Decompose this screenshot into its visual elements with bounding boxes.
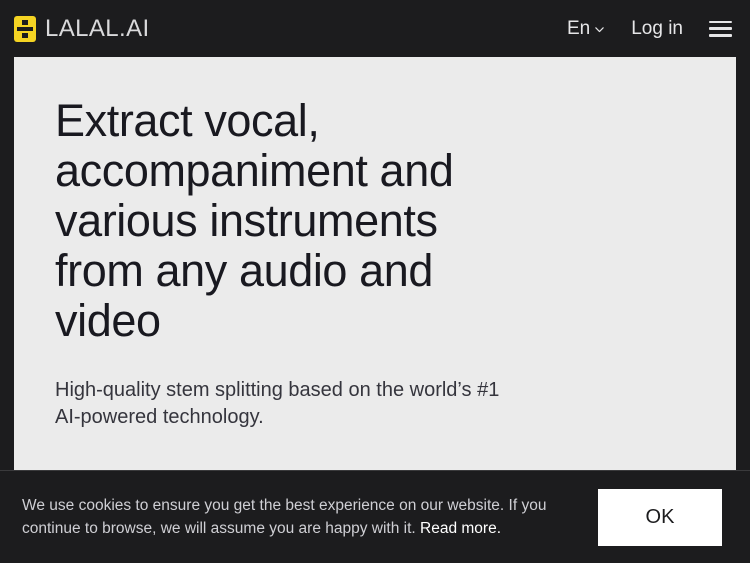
brand-logo[interactable]: LALAL.AI [14, 16, 150, 42]
chevron-down-icon [594, 24, 605, 35]
language-label: En [567, 19, 590, 38]
hero-content: Extract vocal, accompaniment and various… [14, 57, 736, 431]
site-header: LALAL.AI En Log in [0, 0, 750, 57]
hamburger-menu-icon[interactable] [709, 21, 732, 37]
cookie-read-more-link[interactable]: Read more. [420, 520, 501, 537]
cookie-consent-banner: We use cookies to ensure you get the bes… [0, 470, 750, 563]
language-selector[interactable]: En [567, 19, 605, 38]
brand-name: LALAL.AI [45, 17, 150, 41]
header-actions: En Log in [567, 19, 736, 38]
cookie-accept-button[interactable]: OK [598, 489, 722, 546]
hero-subtitle: High-quality stem splitting based on the… [55, 377, 525, 431]
page-root: LALAL.AI En Log in Extract vocal, accomp… [0, 0, 750, 563]
hero-panel: Extract vocal, accompaniment and various… [14, 57, 736, 471]
lalal-logo-icon [14, 16, 36, 42]
cookie-message: We use cookies to ensure you get the bes… [22, 494, 547, 540]
page-title: Extract vocal, accompaniment and various… [55, 96, 525, 346]
login-link[interactable]: Log in [631, 19, 683, 38]
